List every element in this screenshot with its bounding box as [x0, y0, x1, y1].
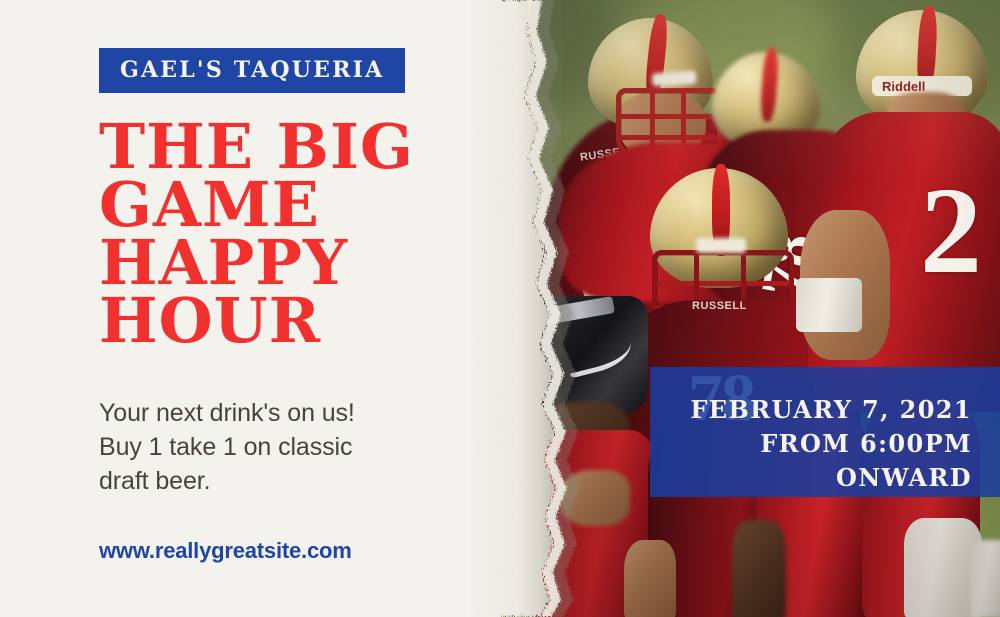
football-photo: 81 RUSSELL 78 ROOS — [500, 0, 1000, 617]
event-time: FROM 6:00PM — [668, 427, 972, 461]
event-date-panel: FEBRUARY 7, 2021 FROM 6:00PM ONWARD — [650, 367, 1000, 497]
jersey-brand-russell-center: RUSSELL — [692, 300, 747, 312]
player-leg — [732, 520, 786, 617]
offer-line-3: draft beer. — [99, 464, 419, 498]
photo-backdrop: 81 RUSSELL 78 ROOS — [500, 0, 1000, 617]
poster-canvas: 81 RUSSELL 78 ROOS — [0, 0, 1000, 617]
chinstrap-center — [696, 238, 746, 253]
content-column: GAEL'S TAQUERIA THE BIG GAME HAPPY HOUR … — [0, 0, 500, 617]
offer-line-1: Your next drink's on us! — [99, 396, 419, 430]
event-date: FEBRUARY 7, 2021 — [668, 393, 972, 427]
offer-description: Your next drink's on us! Buy 1 take 1 on… — [99, 396, 419, 498]
jersey-number-2: 2 — [920, 160, 980, 302]
website-url[interactable]: www.reallygreatsite.com — [99, 538, 352, 564]
event-time-suffix: ONWARD — [668, 461, 972, 495]
headline-line-4: HOUR — [99, 292, 414, 350]
offer-line-2: Buy 1 take 1 on classic — [99, 430, 419, 464]
brand-badge-label: GAEL'S TAQUERIA — [120, 57, 384, 83]
arm-sleeve-right — [796, 278, 862, 332]
player-hand-lower — [560, 470, 630, 526]
player-leg — [624, 540, 676, 617]
page-title: THE BIG GAME HAPPY HOUR — [99, 118, 414, 350]
brand-badge: GAEL'S TAQUERIA — [99, 48, 405, 93]
player-sock — [970, 540, 1000, 617]
